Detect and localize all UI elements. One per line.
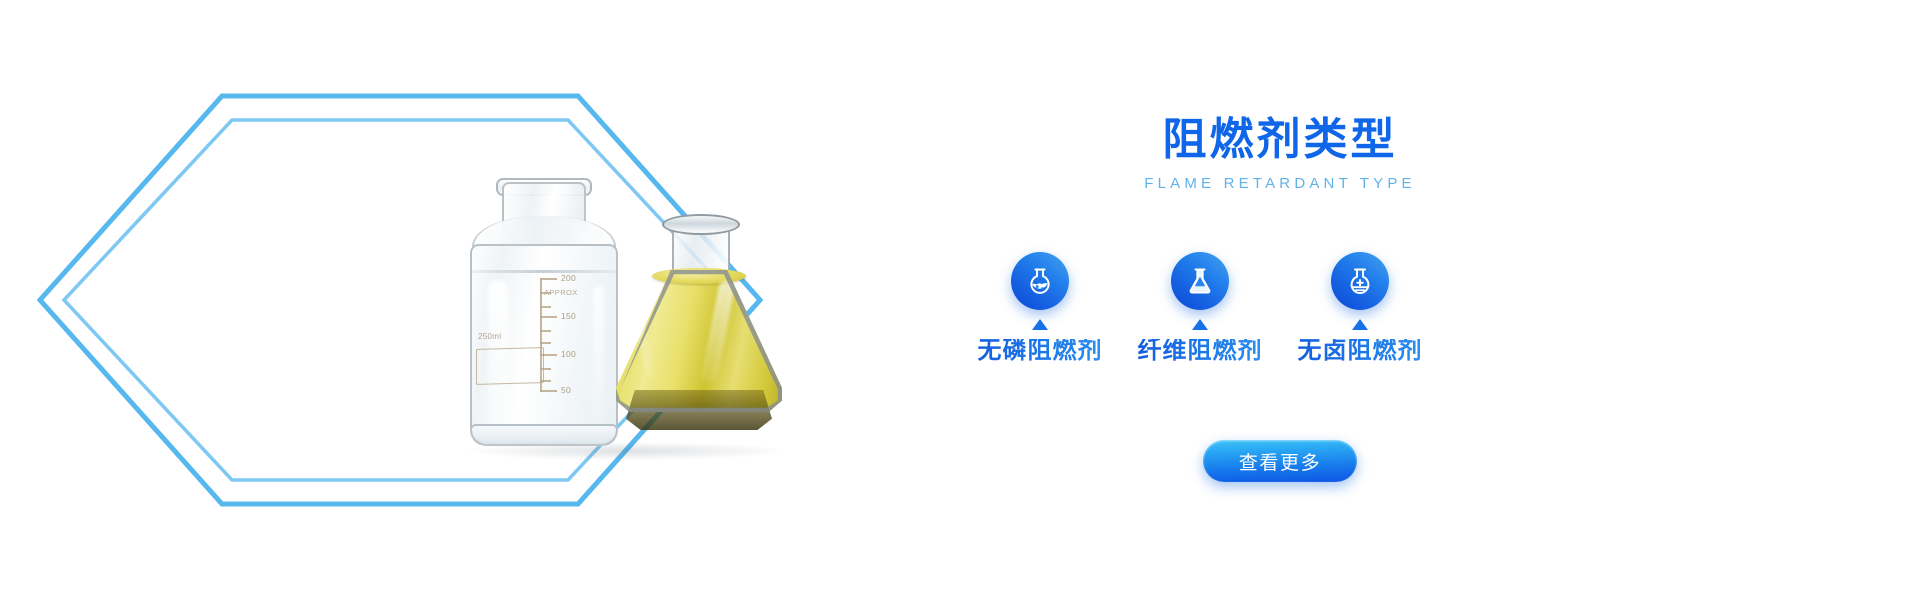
category-badge <box>1011 252 1069 310</box>
page-subtitle: FLAME RETARDANT TYPE <box>960 176 1600 191</box>
bottle-capacity-label: 250ml <box>478 332 501 341</box>
view-more-button[interactable]: 查看更多 <box>1203 440 1357 482</box>
scale-tick <box>540 342 551 344</box>
category-label: 纤维阻燃剂 <box>1120 339 1280 363</box>
flask-lip <box>662 214 740 235</box>
bottle-base <box>470 424 618 446</box>
bottle-liquid-line <box>472 270 616 273</box>
scale-number: 200 <box>561 274 576 283</box>
scale-number: 150 <box>561 312 576 321</box>
scale-tick <box>540 390 557 392</box>
scale-tick <box>540 292 551 294</box>
product-visual: APPROX 200 150 100 50 250 <box>0 0 960 600</box>
category-label: 无磷阻燃剂 <box>960 339 1120 363</box>
scale-tick <box>540 278 557 280</box>
category-badge <box>1331 252 1389 310</box>
scale-number: 100 <box>561 350 576 359</box>
scale-number: 50 <box>561 386 571 395</box>
flask-plus-icon <box>1344 265 1376 297</box>
bottle-label-area <box>476 347 544 385</box>
category-pointer-icon <box>1192 319 1208 330</box>
banner-content: 阻燃剂类型 FLAME RETARDANT TYPE 无磷阻燃剂 <box>960 0 1920 600</box>
bottle-graduation-scale: APPROX 200 150 100 50 <box>540 278 610 392</box>
scale-tick <box>540 330 551 332</box>
page-title: 阻燃剂类型 <box>960 118 1600 162</box>
category-item-halogen-free[interactable]: 无卤阻燃剂 <box>1280 252 1440 363</box>
category-list: 无磷阻燃剂 纤维阻燃剂 <box>960 252 1600 362</box>
category-item-phosphorus-free[interactable]: 无磷阻燃剂 <box>960 252 1120 363</box>
conical-flask-filled-icon <box>1184 265 1216 297</box>
round-flask-bubbles-icon <box>1024 265 1056 297</box>
reagent-bottle: APPROX 200 150 100 50 250 <box>458 182 626 444</box>
glassware-photo: APPROX 200 150 100 50 250 <box>440 170 800 450</box>
category-badge <box>1171 252 1229 310</box>
category-pointer-icon <box>1032 319 1048 330</box>
category-item-fiber[interactable]: 纤维阻燃剂 <box>1120 252 1280 363</box>
category-label: 无卤阻燃剂 <box>1280 339 1440 363</box>
scale-tick <box>540 316 557 318</box>
erlenmeyer-flask <box>610 208 788 436</box>
scale-tick <box>540 306 551 308</box>
category-pointer-icon <box>1352 319 1368 330</box>
flame-retardant-banner: APPROX 200 150 100 50 250 <box>0 0 1920 600</box>
